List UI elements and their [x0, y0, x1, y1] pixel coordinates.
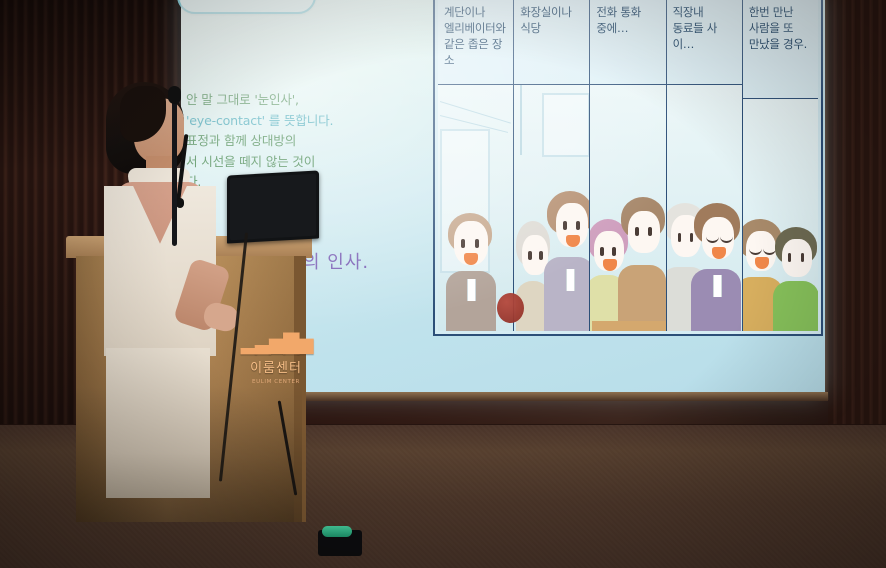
- slide-sub-text: 의 인사.: [303, 248, 369, 274]
- slide-red-marker: [497, 293, 524, 323]
- comic-panel-2: 화장실이나 식당: [514, 0, 590, 331]
- comic-panel-2-art: [514, 85, 589, 331]
- comic-panel-4: 직장내 동료들 사이…: [667, 0, 743, 331]
- comic-panel-3-art: [590, 85, 665, 331]
- slide-body-line-4: 서 시선을 떼지 않는 것이: [186, 152, 391, 173]
- comic-panel-5-art: [743, 99, 818, 331]
- slide-body-line-3: 표정과 함께 상대방의: [186, 131, 391, 152]
- venue-logo-subtitle: EULIM CENTER: [234, 379, 318, 385]
- floor-device-green-top: [322, 526, 352, 537]
- presenter: [76, 82, 216, 412]
- slide-body-line-2: 'eye-contact' 를 뜻합니다.: [186, 111, 391, 132]
- podium-microphone-stand: [172, 96, 177, 246]
- comic-character: [691, 203, 742, 331]
- venue-logo-name: 이룸센터: [234, 357, 318, 376]
- podium-microphone-head: [168, 86, 181, 104]
- comic-strip: 계단이나 엘리베이터와 같은 좁은 장소: [433, 0, 823, 336]
- comic-panel-2-caption: 화장실이나 식당: [514, 0, 589, 85]
- comic-character: [773, 227, 818, 331]
- right-wall: [828, 0, 886, 430]
- comic-panel-3-caption: 전화 통화 중에…: [590, 0, 665, 85]
- photo-scene: 1. 15도 이내의 목례 안 말 그대로 '눈인사', 'eye-contac…: [0, 0, 886, 568]
- comic-panel-5: 한번 만난 사람을 또 만났을 경우.: [743, 0, 818, 331]
- comic-character: [544, 191, 589, 331]
- comic-panel-1-caption: 계단이나 엘리베이터와 같은 좁은 장소: [438, 0, 513, 85]
- comic-panel-3: 전화 통화 중에…: [590, 0, 666, 331]
- slide-body-line-1: 안 말 그대로 '눈인사',: [186, 90, 391, 111]
- comic-character: [444, 213, 500, 331]
- comic-panel-5-caption: 한번 만난 사람을 또 만났을 경우.: [743, 0, 818, 99]
- laptop-screen: [230, 174, 316, 241]
- comic-character: [618, 197, 665, 331]
- slide-heading-pill: 1. 15도 이내의 목례: [177, 0, 316, 14]
- headset-mic-tip: [176, 198, 184, 208]
- venue-logo-mark: ▂▃▅▇▅: [234, 332, 318, 352]
- comic-panel-4-art: [667, 85, 742, 331]
- laptop[interactable]: [227, 170, 319, 243]
- venue-logo: ▂▃▅▇▅ 이룸센터 EULIM CENTER: [234, 332, 318, 398]
- comic-panel-1: 계단이나 엘리베이터와 같은 좁은 장소: [438, 0, 514, 331]
- comic-panel-1-art: [438, 85, 513, 331]
- slide-heading-text: 1. 15도 이내의 목례: [185, 0, 310, 2]
- comic-panel-4-caption: 직장내 동료들 사이…: [667, 0, 742, 85]
- presenter-skirt: [106, 348, 210, 498]
